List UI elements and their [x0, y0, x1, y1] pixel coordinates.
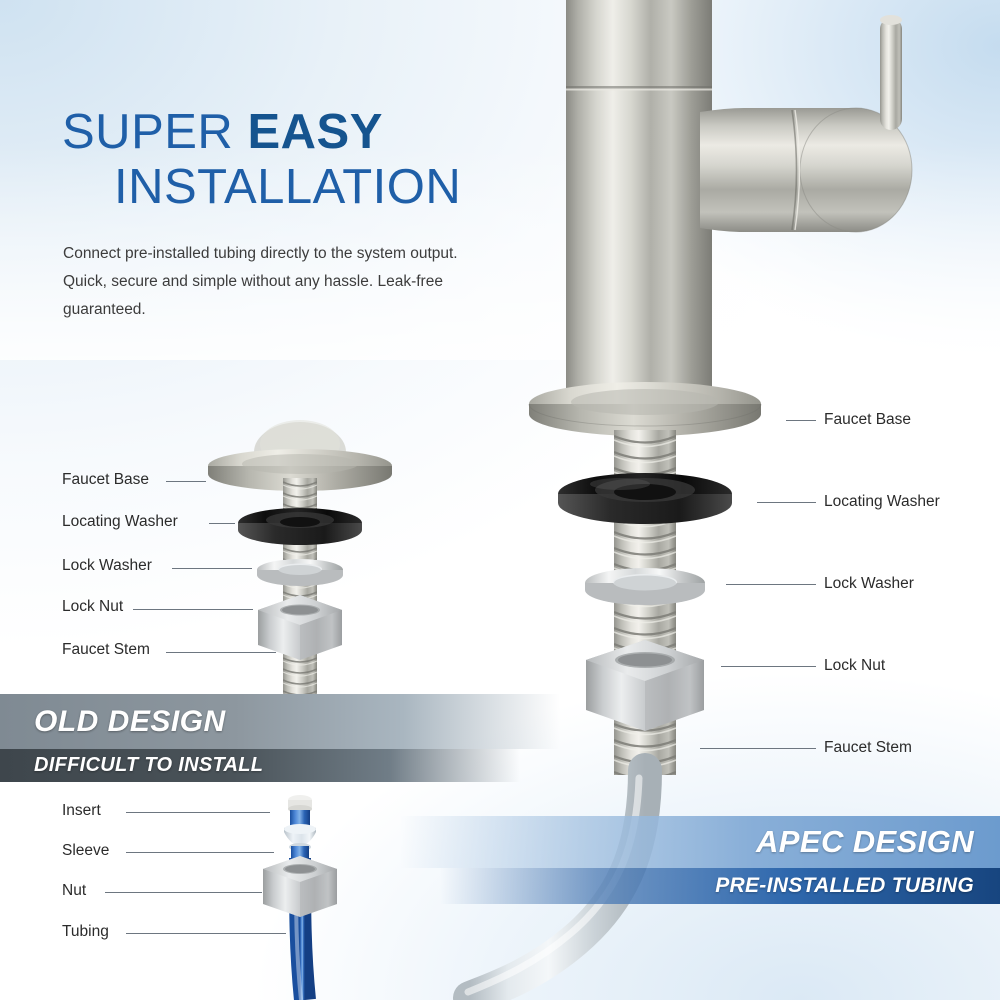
headline-line-2: INSTALLATION — [62, 163, 482, 212]
old-label-nut: Nut — [62, 882, 86, 900]
old-leader-faucet-stem — [166, 652, 276, 653]
apec-label-locating-washer: Locating Washer — [824, 493, 940, 511]
apec-leader-locating-washer — [757, 502, 816, 503]
apec-label-faucet-base: Faucet Base — [824, 411, 911, 429]
old-label-lock-washer: Lock Washer — [62, 557, 152, 575]
apec-leader-lock-nut — [721, 666, 816, 667]
infographic-canvas: SUPER EASY INSTALLATION Connect pre-inst… — [0, 0, 1000, 1000]
old-leader-lock-nut — [133, 609, 253, 610]
apec-design-subbanner: PRE-INSTALLED TUBING — [440, 868, 1000, 904]
headline-line-1: SUPER EASY — [62, 108, 482, 157]
headline-super: SUPER — [62, 105, 247, 159]
old-label-lock-nut: Lock Nut — [62, 598, 123, 616]
apec-leader-lock-washer — [726, 584, 816, 585]
old-leader-sleeve — [126, 852, 274, 853]
old-design-subtitle: DIFFICULT TO INSTALL — [0, 754, 263, 777]
apec-label-lock-nut: Lock Nut — [824, 657, 885, 675]
headline-block: SUPER EASY INSTALLATION — [62, 108, 482, 212]
apec-label-lock-washer: Lock Washer — [824, 575, 914, 593]
old-label-tubing: Tubing — [62, 923, 109, 941]
old-design-banner: OLD DESIGN — [0, 694, 560, 749]
old-leader-locating-washer — [209, 523, 235, 524]
apec-design-title: APEC DESIGN — [756, 824, 1000, 860]
old-label-sleeve: Sleeve — [62, 842, 109, 860]
old-label-locating-washer: Locating Washer — [62, 513, 178, 531]
old-design-title: OLD DESIGN — [0, 705, 226, 739]
headline-easy: EASY — [247, 105, 382, 159]
old-leader-lock-washer — [172, 568, 252, 569]
apec-leader-faucet-base — [786, 420, 816, 421]
apec-design-banner: APEC DESIGN — [400, 816, 1000, 868]
old-leader-faucet-base — [166, 481, 206, 482]
apec-leader-faucet-stem — [700, 748, 816, 749]
apec-design-subtitle: PRE-INSTALLED TUBING — [715, 874, 1000, 898]
old-leader-nut — [105, 892, 262, 893]
apec-label-faucet-stem: Faucet Stem — [824, 739, 912, 757]
old-leader-tubing — [126, 933, 286, 934]
headline-body-copy: Connect pre-installed tubing directly to… — [63, 240, 483, 324]
old-label-insert: Insert — [62, 802, 101, 820]
old-label-faucet-stem: Faucet Stem — [62, 641, 150, 659]
old-leader-insert — [126, 812, 270, 813]
old-label-faucet-base: Faucet Base — [62, 471, 149, 489]
old-design-subbanner: DIFFICULT TO INSTALL — [0, 749, 520, 782]
